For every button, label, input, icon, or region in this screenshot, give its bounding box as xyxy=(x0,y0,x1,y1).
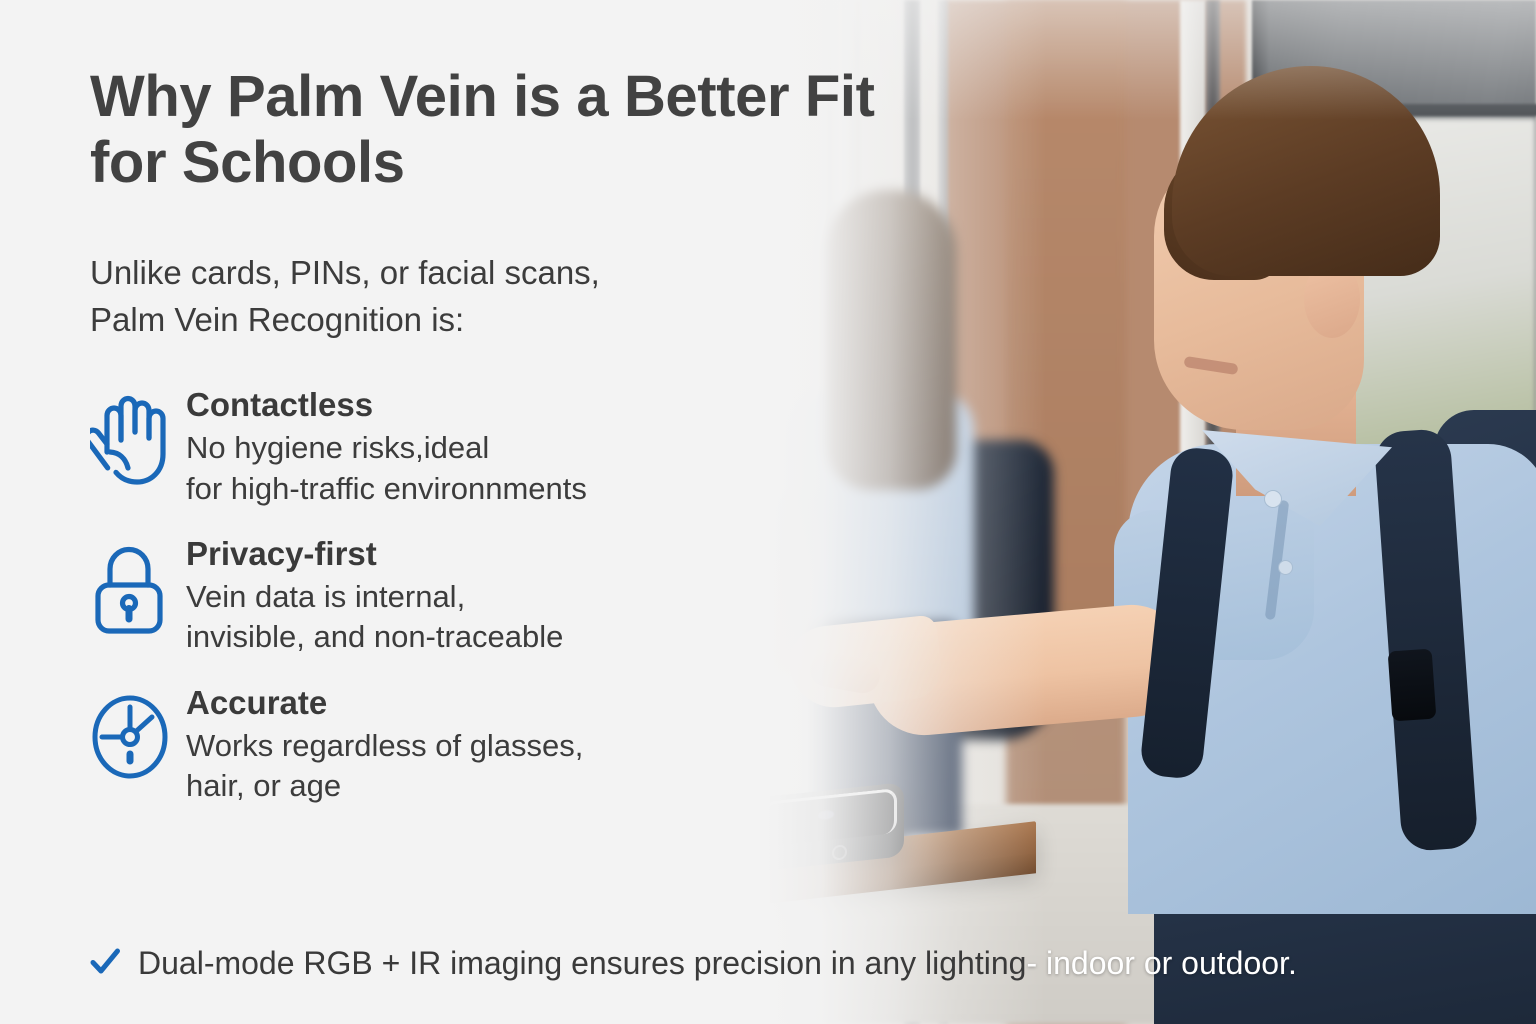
feature-item-accurate: Accurate Works regardless of glasses, ha… xyxy=(90,684,810,807)
feature-item-privacy: Privacy-first Vein data is internal, inv… xyxy=(90,535,810,658)
feature-title: Contactless xyxy=(186,386,810,424)
page-subtitle: Unlike cards, PINs, or facial scans, Pal… xyxy=(90,250,790,344)
backpack-strap-buckle xyxy=(1388,649,1437,722)
feature-description: Works regardless of glasses, hair, or ag… xyxy=(186,726,810,807)
foreground-student-boy xyxy=(986,30,1536,1024)
boy-shirt-button-bottom xyxy=(1278,560,1293,575)
feature-text-privacy: Privacy-first Vein data is internal, inv… xyxy=(186,535,810,658)
text-panel: Why Palm Vein is a Better Fit for School… xyxy=(0,0,840,1024)
footnote-text-light: - indoor or outdoor. xyxy=(1026,945,1296,982)
poster-root: Why Palm Vein is a Better Fit for School… xyxy=(0,0,1536,1024)
feature-text-accurate: Accurate Works regardless of glasses, ha… xyxy=(186,684,810,807)
open-palm-hand-icon xyxy=(90,386,186,488)
feature-title: Privacy-first xyxy=(186,535,810,573)
page-title: Why Palm Vein is a Better Fit for School… xyxy=(90,64,990,195)
boy-shirt-button-top xyxy=(1264,490,1282,508)
footnote-line: Dual-mode RGB + IR imaging ensures preci… xyxy=(88,944,1297,982)
feature-description: Vein data is internal, invisible, and no… xyxy=(186,577,810,658)
feature-text-contactless: Contactless No hygiene risks,ideal for h… xyxy=(186,386,810,509)
footnote-text-dark: Dual-mode RGB + IR imaging ensures preci… xyxy=(138,945,1026,982)
clock-gauge-icon xyxy=(90,684,186,784)
checkmark-icon xyxy=(88,944,122,982)
feature-item-contactless: Contactless No hygiene risks,ideal for h… xyxy=(90,386,810,509)
feature-title: Accurate xyxy=(186,684,810,722)
padlock-icon xyxy=(90,535,186,637)
feature-list: Contactless No hygiene risks,ideal for h… xyxy=(90,386,810,833)
feature-description: No hygiene risks,ideal for high-traffic … xyxy=(186,428,810,509)
